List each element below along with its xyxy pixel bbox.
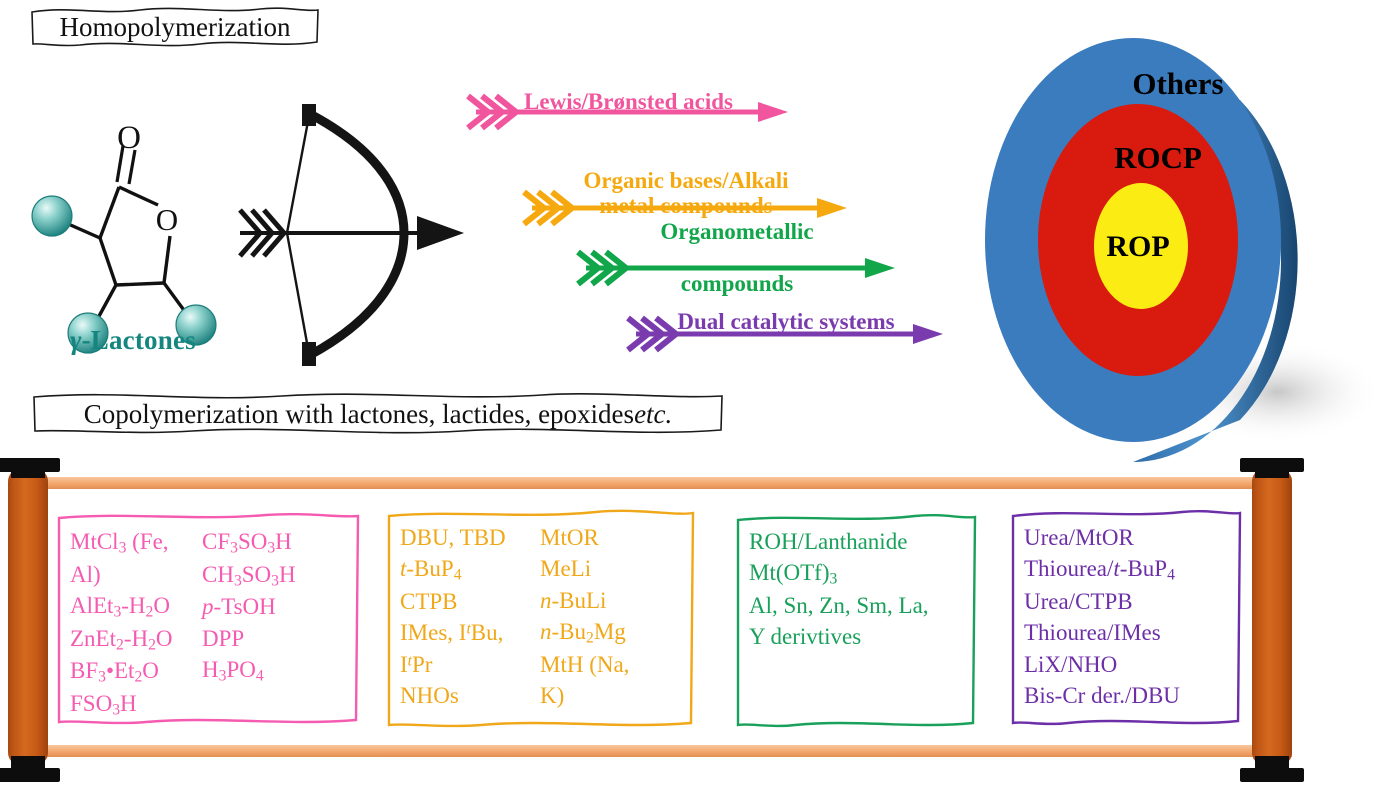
- gamma-symbol: γ: [70, 325, 81, 355]
- bow-and-arrow-icon: [232, 92, 482, 377]
- reaction-label-line2: compounds: [576, 272, 898, 296]
- catalyst-item: ZnEt2-H2O: [70, 623, 202, 656]
- catalyst-item: t-BuP4: [400, 553, 540, 586]
- banner-copolymerization: Copolymerization with lactones, lactides…: [32, 392, 724, 436]
- catalyst-column-1: Urea/MtOR Thiourea/t-BuP4 Urea/CTPB Thio…: [1024, 522, 1180, 728]
- target-label-rop: ROP: [938, 230, 1338, 264]
- bow-svg: [232, 92, 482, 377]
- reaction-arrow-organometallic-compounds: Organometallic compounds: [576, 228, 898, 300]
- reaction-label-block: Organic bases/Alkali metal compounds: [522, 169, 850, 218]
- svg-text:O: O: [156, 202, 178, 237]
- catalyst-list: MtCl3 (Fe, Al) AlEt3-H2O ZnEt2-H2O BF3•E…: [56, 512, 361, 727]
- catalyst-item: Thiourea/IMes: [1024, 617, 1180, 648]
- molecule-label: γ-Lactones: [18, 325, 248, 356]
- catalyst-item: ROH/Lanthanide: [749, 526, 929, 557]
- reaction-label-block: Organometallic compounds: [576, 220, 898, 297]
- shelf-capstem-top-left: [11, 462, 45, 478]
- catalyst-item: MtCl3 (Fe,: [70, 526, 202, 559]
- catalyst-item: FSO3H: [70, 688, 202, 721]
- catalyst-item: BF3•Et2O: [70, 655, 202, 688]
- catalyst-item: Thiourea/t-BuP4: [1024, 553, 1180, 586]
- catalyst-item: Al, Sn, Zn, Sm, La,: [749, 590, 929, 621]
- reaction-label: Lewis/Brønsted acids: [466, 90, 791, 114]
- shelf-post-left: [8, 472, 48, 762]
- catalyst-item: IMes, ItBu,: [400, 617, 540, 648]
- catalyst-box-organometallic: ROH/Lanthanide Mt(OTf)3 Al, Sn, Zn, Sm, …: [735, 512, 978, 730]
- catalyst-item: Urea/CTPB: [1024, 586, 1180, 617]
- shelf-capstem-top-right: [1255, 462, 1289, 478]
- catalyst-item: Urea/MtOR: [1024, 522, 1180, 553]
- banner-copolymerization-text: Copolymerization with lactones, lactides…: [84, 399, 634, 430]
- catalyst-item: CTPB: [400, 586, 540, 617]
- reaction-arrow-dual-catalytic-systems: Dual catalytic systems: [626, 306, 946, 354]
- catalyst-item: H3PO4: [202, 654, 296, 687]
- catalyst-column-1: ROH/Lanthanide Mt(OTf)3 Al, Sn, Zn, Sm, …: [749, 526, 929, 730]
- catalyst-item: AlEt3-H2O: [70, 590, 202, 623]
- catalyst-item: NHOs: [400, 680, 540, 711]
- catalyst-item: DBU, TBD: [400, 522, 540, 553]
- catalyst-item: Bis-Cr der./DBU: [1024, 680, 1180, 711]
- reaction-arrow-lewis-bronsted-acids: Lewis/Brønsted acids: [466, 88, 791, 136]
- shelf-capstem-bottom-left: [11, 756, 45, 772]
- reaction-label: Dual catalytic systems: [626, 310, 946, 334]
- reaction-label-line2: metal compounds: [522, 194, 850, 218]
- banner-copolymerization-etc: etc.: [634, 399, 672, 430]
- shelf-rail-bottom: [40, 745, 1292, 757]
- catalyst-item: K): [540, 680, 629, 711]
- banner-homopolymerization-label: Homopolymerization: [30, 6, 320, 48]
- catalyst-item: ItPr: [400, 649, 540, 680]
- catalyst-box-lewis-bronsted-acids: MtCl3 (Fe, Al) AlEt3-H2O ZnEt2-H2O BF3•E…: [56, 512, 361, 727]
- target-label-others: Others: [978, 66, 1378, 102]
- reaction-label-line1: Organometallic: [576, 220, 898, 244]
- molecule-name: -Lactones: [82, 325, 196, 355]
- catalyst-item: n-BuLi: [540, 585, 629, 616]
- catalyst-item: DPP: [202, 623, 296, 654]
- catalyst-item: LiX/NHO: [1024, 649, 1180, 680]
- catalyst-item: CF3SO3H: [202, 526, 296, 559]
- catalyst-item: MeLi: [540, 553, 629, 584]
- catalyst-item: p-TsOH: [202, 591, 296, 622]
- catalyst-item: MtOR: [540, 522, 629, 553]
- catalyst-item: n-Bu2Mg: [540, 616, 629, 649]
- banner-homopolymerization: Homopolymerization: [30, 6, 320, 48]
- catalyst-list: ROH/Lanthanide Mt(OTf)3 Al, Sn, Zn, Sm, …: [735, 512, 978, 730]
- catalyst-column-1: DBU, TBD t-BuP4 CTPB IMes, ItBu, ItPr NH…: [400, 522, 540, 730]
- catalyst-column-1: MtCl3 (Fe, Al) AlEt3-H2O ZnEt2-H2O BF3•E…: [70, 526, 202, 727]
- target-disc: Others ROCP ROP: [978, 22, 1378, 462]
- shelf-capstem-bottom-right: [1255, 756, 1289, 772]
- target-label-rocp: ROCP: [958, 140, 1358, 176]
- catalyst-column-2: MtOR MeLi n-BuLi n-Bu2Mg MtH (Na, K): [540, 522, 629, 730]
- catalyst-list: DBU, TBD t-BuP4 CTPB IMes, ItBu, ItPr NH…: [386, 508, 696, 730]
- catalyst-column-2: CF3SO3H CH3SO3H p-TsOH DPP H3PO4: [202, 526, 296, 727]
- catalyst-item: Al): [70, 559, 202, 590]
- catalyst-box-organic-bases: DBU, TBD t-BuP4 CTPB IMes, ItBu, ItPr NH…: [386, 508, 696, 730]
- catalyst-item: CH3SO3H: [202, 559, 296, 592]
- catalyst-item: MtH (Na,: [540, 649, 629, 680]
- graphical-abstract: Homopolymerization: [0, 0, 1386, 785]
- catalyst-item: Y derivtives: [749, 621, 929, 652]
- shelf-post-right: [1252, 472, 1292, 762]
- catalyst-list: Urea/MtOR Thiourea/t-BuP4 Urea/CTPB Thio…: [1010, 508, 1243, 728]
- shelf-rail-top: [40, 477, 1292, 489]
- reaction-label-line1: Organic bases/Alkali: [522, 169, 850, 193]
- svg-text:O: O: [117, 120, 141, 156]
- catalyst-box-dual-catalytic: Urea/MtOR Thiourea/t-BuP4 Urea/CTPB Thio…: [1010, 508, 1243, 728]
- catalyst-item: Mt(OTf)3: [749, 557, 929, 590]
- banner-copolymerization-label: Copolymerization with lactones, lactides…: [32, 392, 724, 436]
